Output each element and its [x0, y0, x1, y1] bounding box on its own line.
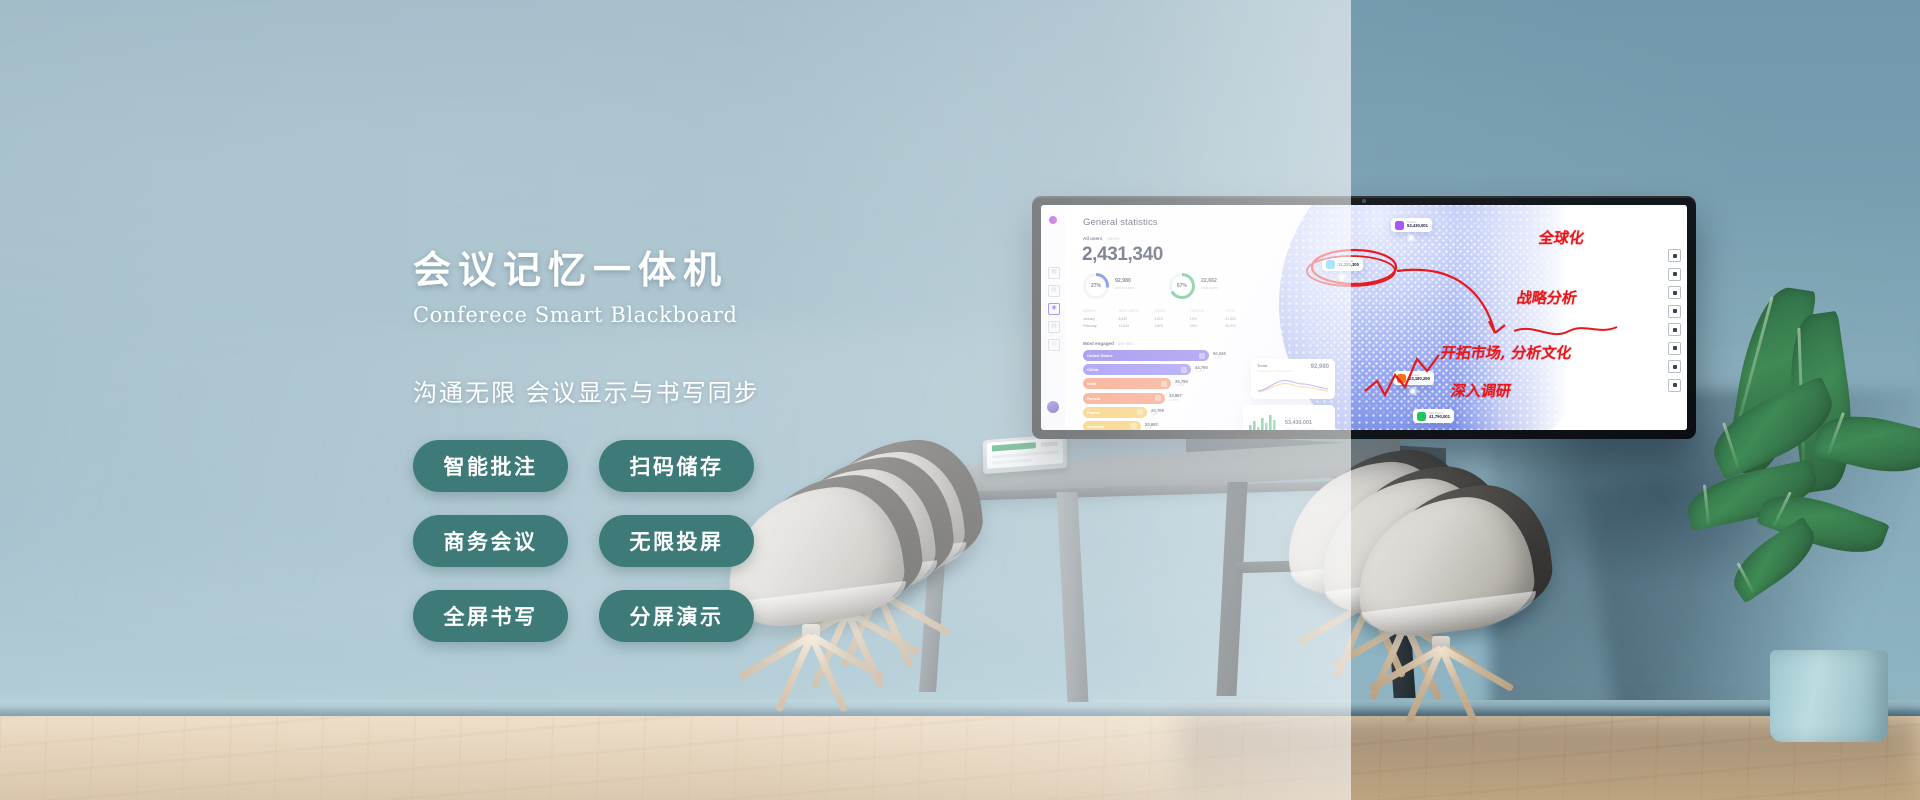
map-tooltip[interactable]: Minneapolis 12,320,300	[1322, 257, 1363, 271]
location-icon	[1326, 260, 1335, 269]
country-delta: +860	[1151, 413, 1164, 416]
page-tagline: 沟通无限 会议显示与书写同步	[413, 373, 973, 408]
location-icon	[1395, 221, 1404, 230]
hero-panel: 会议记忆一体机 Conferece Smart Blackboard 沟通无限 …	[413, 252, 973, 642]
cell: January	[1083, 317, 1119, 321]
most-engaged-label: Most engagedper sec	[1083, 341, 1133, 346]
list-item[interactable]: Russia 33,867+1,061	[1083, 393, 1265, 404]
map-tooltip[interactable]: São Paulo 41,790,001	[1413, 409, 1454, 423]
tablet-placeholder-line	[992, 458, 1032, 464]
app-logo-icon	[1047, 214, 1059, 226]
map-tooltip[interactable]: Toronto 53,430,001	[1391, 218, 1432, 232]
country-delta: +1,061	[1169, 399, 1182, 402]
country-bar-list: United States 50,546+1,230 China 44,790+…	[1083, 350, 1265, 430]
country-delta: +413	[1145, 427, 1158, 430]
fullscreen-writing-button[interactable]: 全屏书写	[413, 590, 568, 642]
scene: ▦ ▤ ◉ ▤ ◎ General statistics All usersse…	[0, 0, 1920, 800]
tooltip-value: 12,320,300	[1338, 263, 1359, 268]
annotation-deep-research: 深入调研	[1449, 380, 1512, 401]
plant-pot	[1770, 650, 1888, 742]
globe-icon[interactable]: ◉	[1048, 303, 1060, 315]
feature-button-grid: 智能批注 扫码储存 商务会议 无限投屏 全屏书写 分屏演示	[413, 440, 973, 642]
country-delta: +1,230	[1213, 356, 1226, 359]
qr-storage-button[interactable]: 扫码储存	[599, 440, 754, 492]
most-engaged-sub: per sec	[1118, 341, 1133, 346]
column-header: TRAFFIC	[1190, 309, 1226, 313]
tooltip-pin	[1409, 236, 1413, 240]
baseboard	[0, 700, 1920, 717]
cell: 3,210	[1154, 317, 1190, 321]
cell: 23%	[1190, 324, 1226, 328]
list-item[interactable]: United States 50,546+1,230	[1083, 350, 1265, 361]
column-header: NEW USERS	[1119, 309, 1155, 313]
reports-icon[interactable]: ▤	[1048, 285, 1060, 297]
flag-icon	[1155, 395, 1161, 401]
all-users-label: All usersseries	[1083, 236, 1120, 241]
trend-card[interactable]: Trend Compared to 12% last year 92,980	[1251, 359, 1335, 399]
smart-blackboard-display[interactable]: ▦ ▤ ◉ ▤ ◎ General statistics All usersse…	[1032, 196, 1696, 439]
card-title: Trend	[1257, 364, 1292, 368]
card-value: 92,980	[1311, 364, 1329, 370]
fullscreen-icon[interactable]	[1668, 360, 1681, 373]
dashboard-title: General statistics	[1083, 217, 1158, 228]
country-pill[interactable]: United States	[1083, 350, 1209, 361]
tablet-device[interactable]	[983, 434, 1068, 474]
country-delta: +1,120	[1175, 384, 1188, 387]
list-item[interactable]: China 44,790+1,213	[1083, 364, 1265, 375]
country-pill[interactable]: France	[1083, 407, 1147, 418]
split-screen-presentation-button[interactable]: 分屏演示	[599, 590, 754, 642]
annotation-globalization: 全球化	[1537, 227, 1585, 248]
tooltip-value: 41,790,001	[1429, 415, 1450, 420]
column-header: MONTH	[1083, 309, 1119, 313]
card-value: 53,430,001	[1285, 420, 1314, 426]
settings-icon[interactable]: ◎	[1048, 339, 1060, 351]
location-icon	[1417, 412, 1426, 421]
tooltip-pin	[1340, 275, 1344, 279]
map-tooltip[interactable]: Manaus 23,180,290	[1393, 371, 1434, 385]
note-icon[interactable]	[1668, 268, 1681, 281]
trend-line-chart	[1257, 375, 1329, 393]
avatar[interactable]	[1047, 401, 1059, 413]
country-pill[interactable]: Australia	[1083, 421, 1141, 430]
cell: 8,430	[1119, 317, 1155, 321]
cell: 13%	[1190, 317, 1226, 321]
active-users-label: Active users	[1115, 286, 1135, 290]
country-name: India	[1087, 381, 1096, 386]
display-screen[interactable]: ▦ ▤ ◉ ▤ ◎ General statistics All usersse…	[1041, 205, 1687, 430]
tablet-placeholder-line	[1041, 441, 1058, 446]
table-row: January 8,430 3,210 13% 21,520	[1083, 313, 1261, 321]
flag-icon	[1199, 353, 1205, 359]
country-pill[interactable]: India	[1083, 378, 1171, 389]
location-icon	[1397, 374, 1406, 383]
dashboard-main: General statistics All usersseries 2,431…	[1065, 205, 1687, 430]
download-icon[interactable]	[1668, 305, 1681, 318]
refresh-icon[interactable]	[1668, 379, 1681, 392]
new-users-label: New users	[1201, 286, 1218, 290]
country-value: 33,867+1,061	[1169, 394, 1182, 401]
country-pill[interactable]: China	[1083, 364, 1191, 375]
all-users-value: 2,431,340	[1082, 244, 1163, 266]
dashboard-sidebar[interactable]: ▦ ▤ ◉ ▤ ◎	[1041, 205, 1066, 430]
country-value: 20,709+860	[1151, 409, 1164, 416]
list-item[interactable]: Australia 20,692+413	[1083, 421, 1265, 430]
coverage-bar-chart	[1249, 413, 1279, 430]
all-users-sub: series	[1107, 236, 1119, 241]
cell: February	[1083, 324, 1119, 328]
smart-annotation-button[interactable]: 智能批注	[413, 440, 568, 492]
unlimited-casting-button[interactable]: 无限投屏	[599, 515, 754, 567]
tooltip-pin	[1411, 389, 1415, 393]
cell: 44,313	[1225, 324, 1261, 328]
tablet-screen	[987, 437, 1063, 469]
new-users-value: 22,662	[1201, 278, 1217, 284]
tooltip-value: 23,180,290	[1409, 377, 1430, 382]
column-header: TOTAL	[1225, 309, 1261, 313]
annotation-strategic-analysis: 战略分析	[1515, 287, 1578, 308]
country-pill[interactable]: Russia	[1083, 393, 1165, 404]
storage-icon[interactable]: ▤	[1048, 321, 1060, 333]
tablet-accent-bar	[992, 442, 1036, 451]
pen-icon[interactable]	[1668, 249, 1681, 262]
tooltip-value: 53,430,001	[1407, 224, 1428, 229]
ring-percent: 27%	[1091, 283, 1101, 289]
coverage-card[interactable]: Total coverage 53,430,001 Compared to 10…	[1243, 405, 1335, 430]
country-value: 50,546+1,230	[1213, 352, 1226, 359]
stats-table: MONTH NEW USERS VISITS TRAFFIC TOTAL Jan…	[1083, 309, 1261, 328]
flag-icon	[1181, 367, 1187, 373]
cell: 12,543	[1119, 324, 1155, 328]
flag-icon	[1131, 423, 1137, 429]
whiteboard-toolbar[interactable]	[1668, 249, 1681, 392]
flag-icon	[1137, 409, 1143, 415]
country-name: United States	[1087, 353, 1113, 358]
country-value: 26,790+1,120	[1175, 380, 1188, 387]
active-users-ring: 27%	[1083, 273, 1109, 299]
column-header: VISITS	[1154, 309, 1190, 313]
cell: 1,879	[1154, 324, 1190, 328]
tablet-placeholder-line	[992, 450, 1058, 458]
active-users-value: 92,980	[1115, 278, 1131, 284]
country-name: France	[1087, 410, 1100, 415]
card-subtitle: Compared to 12% last year	[1257, 369, 1292, 373]
dashboard-icon[interactable]: ▦	[1048, 267, 1060, 279]
country-name: Australia	[1087, 424, 1104, 429]
page-title: 会议记忆一体机	[413, 252, 973, 290]
lock-icon[interactable]	[1668, 323, 1681, 336]
business-meeting-button[interactable]: 商务会议	[413, 515, 568, 567]
table-header-row: MONTH NEW USERS VISITS TRAFFIC TOTAL	[1083, 309, 1261, 313]
country-value: 20,692+413	[1145, 423, 1158, 430]
country-name: China	[1087, 367, 1098, 372]
card-subtitle: Compared to 10% last	[1285, 427, 1314, 430]
country-delta: +1,213	[1195, 370, 1208, 373]
country-value: 44,790+1,213	[1195, 366, 1208, 373]
country-name: Russia	[1087, 396, 1100, 401]
shape-icon[interactable]	[1668, 286, 1681, 299]
split-screen-icon[interactable]	[1668, 342, 1681, 355]
annotation-market-culture: 开拓市场, 分析文化	[1439, 342, 1573, 363]
page-subtitle: Conferece Smart Blackboard	[413, 303, 973, 327]
list-item[interactable]: India 26,790+1,120	[1083, 378, 1265, 389]
flag-icon	[1161, 381, 1167, 387]
cell: 21,520	[1225, 317, 1261, 321]
ring-percent: 67%	[1177, 283, 1187, 289]
table-row: February 12,543 1,879 23% 44,313	[1083, 321, 1261, 329]
list-item[interactable]: France 20,709+860	[1083, 407, 1265, 418]
new-users-ring: 67%	[1169, 273, 1195, 299]
